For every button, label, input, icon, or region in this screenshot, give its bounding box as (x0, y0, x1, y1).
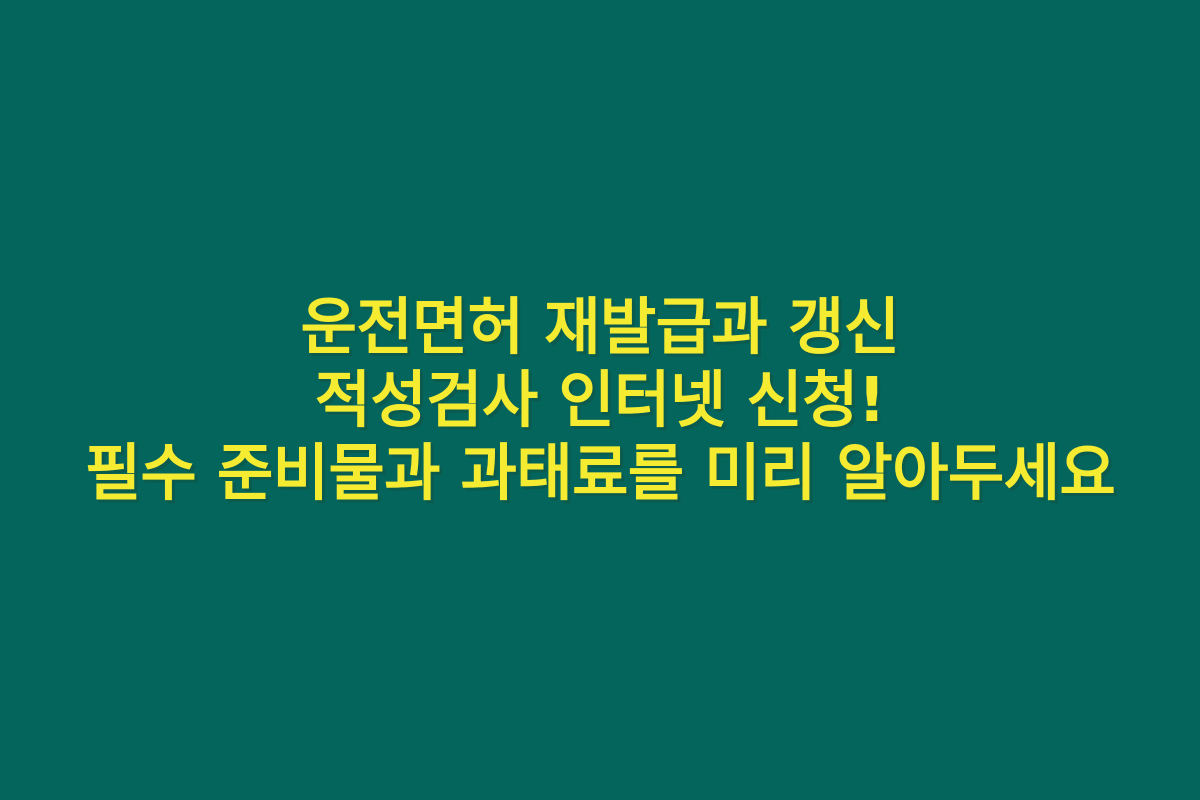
banner-canvas: 운전면허 재발급과 갱신 적성검사 인터넷 신청! 필수 준비물과 과태료를 미… (0, 0, 1200, 800)
headline-line-2: 적성검사 인터넷 신청! (0, 364, 1200, 437)
headline-line-1: 운전면허 재발급과 갱신 (0, 291, 1200, 364)
headline-line-3: 필수 준비물과 과태료를 미리 알아두세요 (0, 437, 1200, 510)
headline-block: 운전면허 재발급과 갱신 적성검사 인터넷 신청! 필수 준비물과 과태료를 미… (0, 291, 1200, 510)
